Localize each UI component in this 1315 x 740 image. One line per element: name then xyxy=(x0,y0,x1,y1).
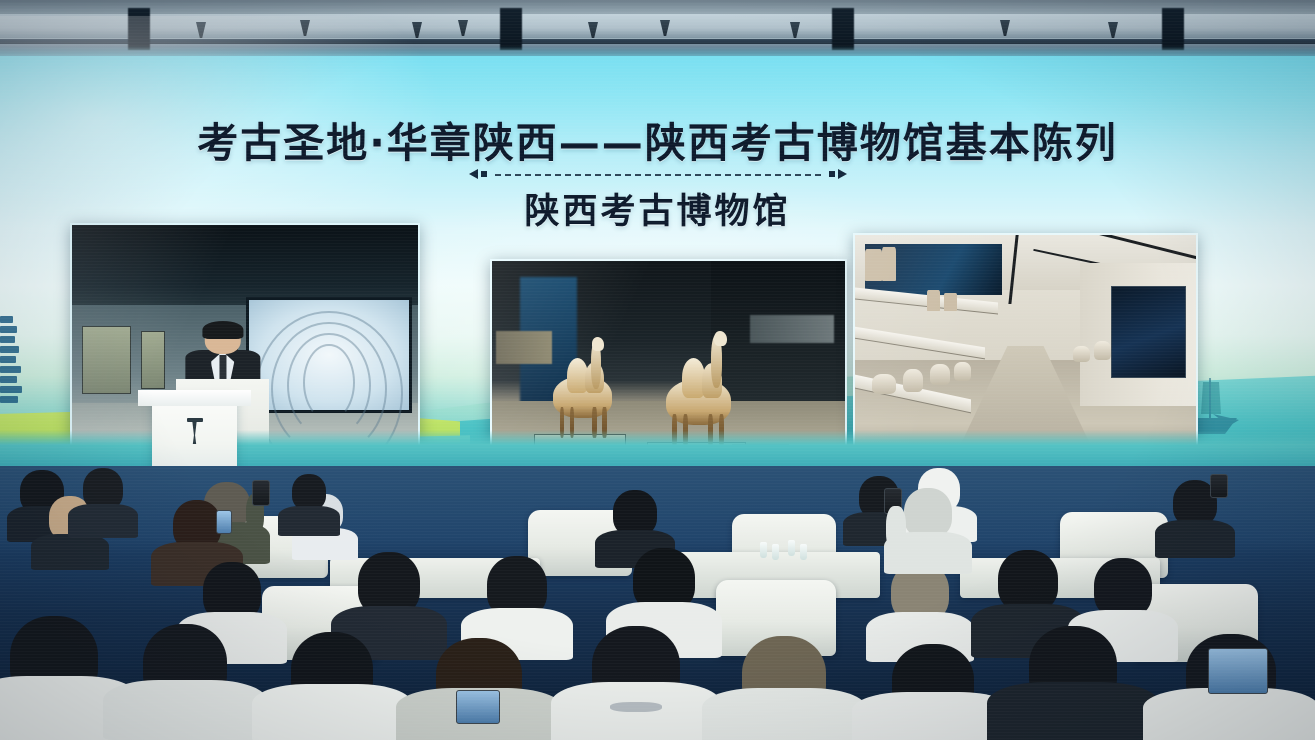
panel-display-case xyxy=(750,315,835,344)
broadcast-frame: 考古圣地·华章陕西——陕西考古博物馆基本陈列 陕西考古博物馆 xyxy=(0,0,1315,740)
person-shoulders xyxy=(702,688,866,740)
person-head xyxy=(904,488,952,538)
ceiling-truss xyxy=(1162,8,1184,50)
ceramic-vessel xyxy=(1073,346,1090,362)
panel-speaker-figure xyxy=(193,324,252,387)
ceramic-vessel xyxy=(954,362,971,380)
person-collar xyxy=(610,702,662,712)
artifact-figure xyxy=(927,290,941,311)
audience-member xyxy=(410,638,548,740)
audience-member xyxy=(890,488,966,574)
title-divider xyxy=(469,168,847,182)
person-arm xyxy=(886,506,906,552)
artifact-figure xyxy=(944,293,958,311)
person-shoulders xyxy=(1155,520,1235,558)
audience-member xyxy=(716,636,852,740)
decorative-frame-line xyxy=(1090,233,1198,353)
person-shoulders xyxy=(31,534,109,570)
divider-arrow-right-icon xyxy=(838,169,847,179)
ceiling-truss xyxy=(832,8,854,50)
artifact-figure xyxy=(865,249,882,281)
person-shoulders xyxy=(1143,688,1315,740)
ceramic-vessel xyxy=(872,374,896,395)
pagoda-icon xyxy=(0,316,26,408)
camel-head xyxy=(714,331,726,346)
water-bottle xyxy=(800,544,807,560)
audience-member xyxy=(866,644,1000,740)
divider-square-icon xyxy=(481,171,487,177)
camel-statue xyxy=(548,335,619,438)
audience-member xyxy=(1160,480,1230,558)
camel-head xyxy=(592,337,603,350)
audience-member xyxy=(118,624,252,740)
panel-display-case xyxy=(496,331,552,364)
water-bottle xyxy=(772,544,779,560)
audience-member xyxy=(566,626,706,740)
audience-member xyxy=(282,474,336,536)
backdrop-title-block: 考古圣地·华章陕西——陕西考古博物馆基本陈列 陕西考古博物馆 xyxy=(0,122,1315,234)
divider-arrow-left-icon xyxy=(469,169,478,179)
person-shoulders xyxy=(278,506,340,536)
divider-dashes xyxy=(495,174,821,176)
artifact-figure xyxy=(882,247,896,282)
person-shoulders xyxy=(252,684,412,740)
ceiling-truss xyxy=(500,8,522,50)
person-shoulders xyxy=(68,504,138,538)
person-shoulders xyxy=(987,682,1159,740)
audience-member xyxy=(266,632,398,740)
lectern-top xyxy=(138,390,251,406)
phone[interactable] xyxy=(252,480,270,506)
phone[interactable] xyxy=(1210,474,1228,498)
person-head xyxy=(998,550,1058,612)
audience-rows xyxy=(0,466,1315,740)
water-bottle xyxy=(788,540,795,556)
phone[interactable] xyxy=(216,510,232,534)
phone[interactable] xyxy=(1208,648,1268,694)
panel-projection-screen xyxy=(246,297,412,413)
divider-square-icon xyxy=(829,171,835,177)
museum-emblem-icon xyxy=(187,418,203,444)
exhibition-title: 考古圣地·华章陕西——陕西考古博物馆基本陈列 xyxy=(0,122,1315,165)
ceramic-vessel xyxy=(930,364,950,385)
panel-display-case xyxy=(82,326,130,393)
panel-display-case xyxy=(141,331,165,389)
arc-graphic xyxy=(303,344,354,421)
speaker-hair xyxy=(202,321,243,339)
audience-member xyxy=(1002,626,1144,740)
person-shoulders xyxy=(103,680,267,740)
person-head xyxy=(1094,558,1152,618)
audience-member xyxy=(72,468,134,538)
phone[interactable] xyxy=(456,690,500,724)
water-bottle xyxy=(760,542,767,558)
person-head xyxy=(292,474,326,510)
ceramic-vessel xyxy=(903,369,923,392)
